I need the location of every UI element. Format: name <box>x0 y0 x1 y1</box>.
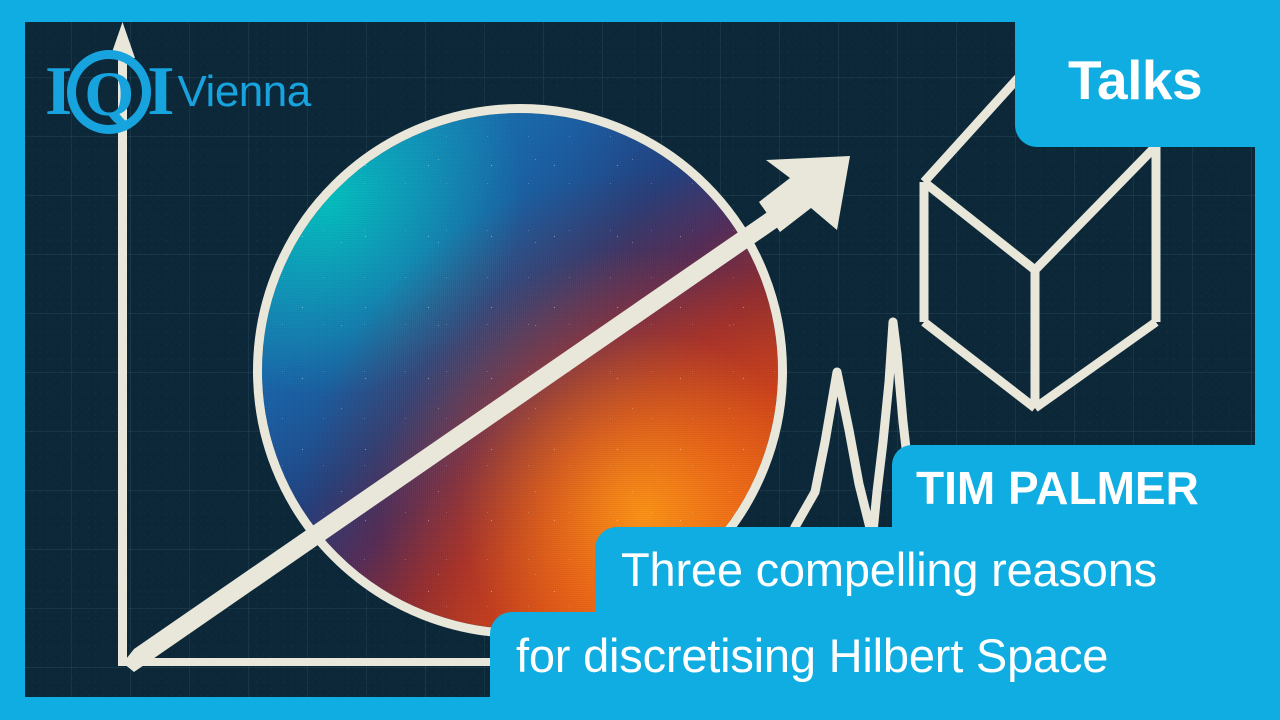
title-line2: for discretising Hilbert Space <box>516 632 1108 679</box>
logo-letter-q: Q <box>84 62 134 126</box>
circled-q-icon: Q <box>67 50 151 134</box>
talk-announcement-poster: I Q I Vienna Talks TIM PALMER Three comp… <box>0 0 1280 720</box>
speaker-name-block: TIM PALMER <box>892 445 1280 531</box>
title-line1: Three compelling reasons <box>621 546 1157 593</box>
bottom-accent-bar <box>0 697 1280 720</box>
category-badge[interactable]: Talks <box>1015 22 1255 147</box>
iqoqi-vienna-logo[interactable]: I Q I Vienna <box>45 52 311 132</box>
title-line2-block: for discretising Hilbert Space <box>490 612 1280 698</box>
y-axis-line <box>118 48 127 666</box>
category-badge-label: Talks <box>1068 53 1202 108</box>
logo-city-label: Vienna <box>178 67 311 117</box>
title-line1-block: Three compelling reasons <box>595 527 1280 612</box>
speaker-name: TIM PALMER <box>916 465 1199 511</box>
